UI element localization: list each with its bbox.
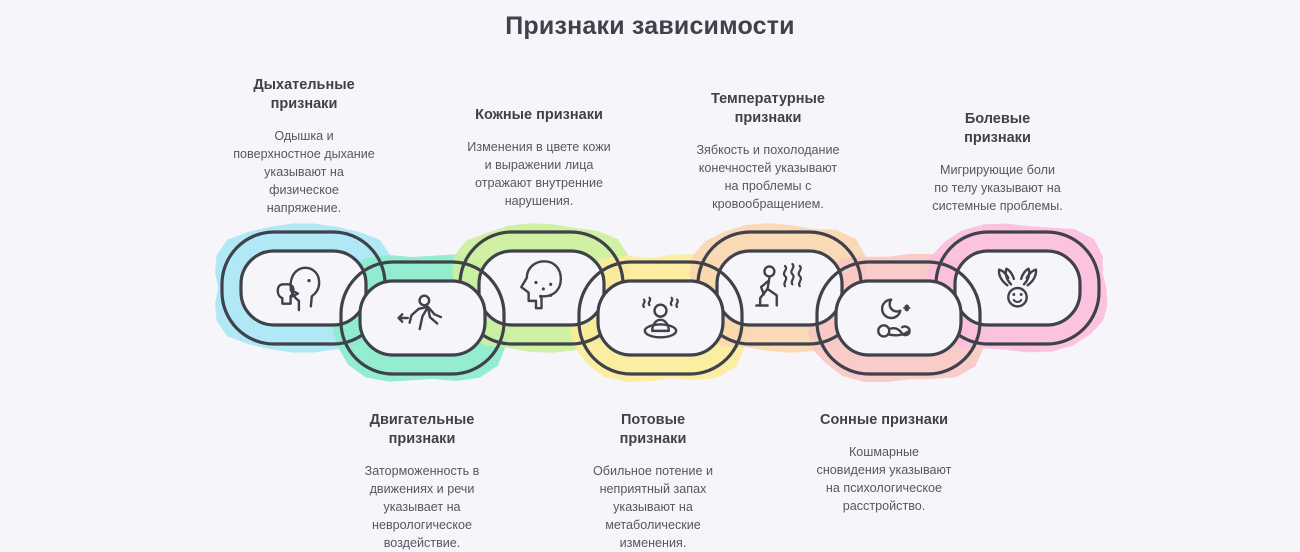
callout-link-3: Кожные признаки Изменения в цвете кожи и… xyxy=(444,106,634,210)
callout-desc: Мигрирующие боли по телу указывают на си… xyxy=(905,161,1090,215)
callout-desc: Зябкость и похолодание конечностей указы… xyxy=(672,141,864,213)
callout-title: Дыхательные признаки xyxy=(213,76,395,114)
callout-desc: Заторможенность в движениях и речи указы… xyxy=(331,462,513,552)
callout-desc: Кошмарные сновидения указывают на психол… xyxy=(793,443,975,515)
page-title: Признаки зависимости xyxy=(0,12,1300,41)
callout-link-2: Двигательные признаки Заторможенность в … xyxy=(331,411,513,552)
callout-link-1: Дыхательные признаки Одышка и поверхност… xyxy=(213,76,395,217)
callout-title: Потовые признаки xyxy=(567,411,739,449)
callout-link-5: Температурные признаки Зябкость и похоло… xyxy=(672,90,864,213)
callout-title: Кожные признаки xyxy=(444,106,634,125)
callout-title: Болевые признаки xyxy=(905,110,1090,148)
callout-title: Температурные признаки xyxy=(672,90,864,128)
callout-title: Двигательные признаки xyxy=(331,411,513,449)
callout-desc: Обильное потение и неприятный запах указ… xyxy=(567,462,739,552)
callout-link-4: Потовые признаки Обильное потение и непр… xyxy=(567,411,739,552)
callout-title: Сонные признаки xyxy=(793,411,975,430)
callout-desc: Изменения в цвете кожи и выражении лица … xyxy=(444,138,634,210)
callout-link-7: Болевые признаки Мигрирующие боли по тел… xyxy=(905,110,1090,215)
callout-desc: Одышка и поверхностное дыхание указывают… xyxy=(213,127,395,217)
callout-link-6: Сонные признаки Кошмарные сновидения ука… xyxy=(793,411,975,515)
